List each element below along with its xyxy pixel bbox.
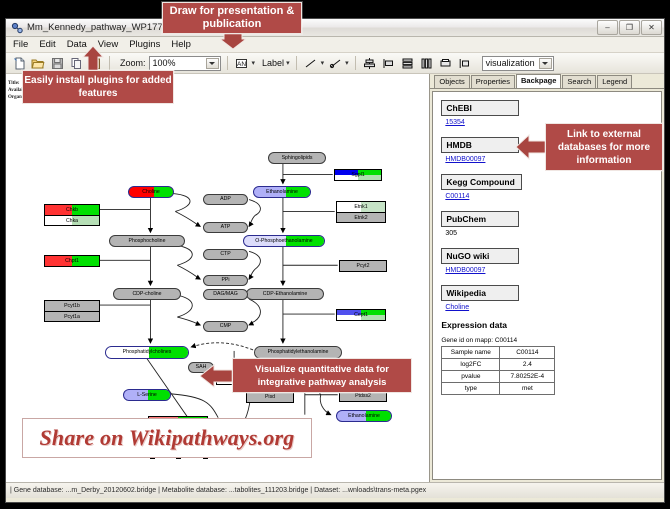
gene-label: Etnk1 bbox=[354, 204, 367, 210]
gene-row-etnk2[interactable]: Etnk2 bbox=[337, 212, 385, 222]
chevron-down-icon[interactable] bbox=[206, 58, 219, 69]
node-label: CTP bbox=[220, 251, 230, 258]
chevron-down-icon-2[interactable] bbox=[539, 58, 552, 69]
table-row: pvalue 7.80252E-4 bbox=[442, 371, 555, 383]
menu-plugins[interactable]: Plugins bbox=[128, 39, 161, 50]
node-label: CMP bbox=[220, 323, 232, 330]
db-link-nugo-wiki[interactable]: HMDB00097 bbox=[445, 267, 661, 274]
expr-value: 2.4 bbox=[500, 359, 555, 371]
close-button[interactable]: ✕ bbox=[641, 20, 662, 35]
gene-box-etnk1-etnk2[interactable]: Etnk1 Etnk2 bbox=[336, 201, 386, 223]
expression-data-table: Sample name C00114 log2FC 2.4 pvalue 7.8… bbox=[441, 346, 555, 395]
node-dag-mag[interactable]: DAG/MAG bbox=[203, 289, 248, 300]
status-bar: | Gene database: ...m_Derby_20120602.bri… bbox=[6, 482, 664, 498]
align-left-icon[interactable] bbox=[381, 55, 397, 71]
node-choline-top[interactable]: Choline bbox=[128, 186, 174, 198]
gene-label: Sgpl1 bbox=[351, 172, 364, 178]
menu-bar: File Edit Data View Plugins Help bbox=[6, 37, 664, 53]
gene-box-chkb-chka[interactable]: Chkb Chka bbox=[44, 204, 100, 226]
node-label: DAG/MAG bbox=[213, 291, 238, 298]
gene-id-on-mapp: Gene id on mapp: C00114 bbox=[441, 337, 661, 344]
callout-visualize-quantitative-data: Visualize quantitative data for integrat… bbox=[232, 358, 412, 393]
expr-value: met bbox=[500, 383, 555, 395]
db-header-chebi: ChEBI bbox=[441, 100, 519, 116]
gene-box-pcyt1b-pcyt1a[interactable]: Pcyt1b Pcyt1a bbox=[44, 300, 100, 322]
node-cmp[interactable]: CMP bbox=[203, 321, 248, 332]
callout-plugins-arrow-icon bbox=[82, 46, 104, 72]
node-cdp-ethanolamine[interactable]: CDP-Ethanolamine bbox=[246, 288, 324, 300]
toolbar-separator-4 bbox=[355, 56, 356, 70]
gene-label: Pcyt1b bbox=[64, 303, 80, 309]
gene-row-chkb[interactable]: Chkb bbox=[45, 205, 99, 215]
gene-row-etnk1[interactable]: Etnk1 bbox=[337, 202, 385, 212]
node-label: Phosphatidylethanolamine bbox=[268, 349, 329, 356]
gene-label: Ptdss2 bbox=[355, 393, 371, 399]
ungroup-icon[interactable] bbox=[457, 55, 473, 71]
pathvisio-icon bbox=[11, 22, 23, 34]
gene-box-pcyt2[interactable]: Pcyt2 bbox=[339, 260, 387, 272]
zoom-combo[interactable]: 100% bbox=[149, 56, 221, 71]
menu-edit[interactable]: Edit bbox=[38, 39, 56, 50]
node-label: Choline bbox=[142, 189, 160, 196]
node-label: L-Serine bbox=[137, 392, 157, 399]
expression-data-title: Expression data bbox=[441, 320, 661, 330]
toolbar-separator-2 bbox=[227, 56, 228, 70]
new-document-icon[interactable] bbox=[11, 55, 27, 71]
node-phosphocholine[interactable]: Phosphocholine bbox=[109, 235, 185, 247]
interaction-tool-icon[interactable] bbox=[327, 55, 343, 71]
callout-link-arrow-icon bbox=[516, 134, 548, 160]
line-tool-icon[interactable] bbox=[303, 55, 319, 71]
node-label: Phosphocholine bbox=[129, 238, 166, 245]
toolbar-separator-1 bbox=[109, 56, 110, 70]
svg-text:AN: AN bbox=[237, 61, 246, 68]
gene-label: Chka bbox=[66, 218, 78, 224]
menu-file[interactable]: File bbox=[12, 39, 29, 50]
label-tool-label[interactable]: Label bbox=[262, 58, 284, 68]
tab-backpage[interactable]: Backpage bbox=[516, 74, 561, 88]
line-dropdown-icon[interactable]: ▾ bbox=[321, 59, 325, 67]
datanode-dropdown-icon[interactable]: ▾ bbox=[252, 59, 256, 67]
node-cdp-choline[interactable]: CDP-choline bbox=[113, 288, 181, 300]
expr-value: C00114 bbox=[500, 347, 555, 359]
db-header-wikipedia: Wikipedia bbox=[441, 285, 519, 301]
node-ethanolamine-top[interactable]: Ethanolamine bbox=[253, 186, 311, 198]
side-panel-tabs: Objects Properties Backpage Search Legen… bbox=[430, 74, 664, 89]
stack-vertical-icon[interactable] bbox=[400, 55, 416, 71]
node-label: CDP-choline bbox=[132, 291, 161, 298]
callout-link-external-databases: Link to external databases for more info… bbox=[545, 123, 663, 171]
node-o-phosphoethanolamine[interactable]: O-Phosphoethanolamine bbox=[243, 235, 325, 247]
visualization-combo[interactable]: visualization bbox=[482, 56, 554, 71]
node-label: Phosphatidylcholines bbox=[123, 349, 172, 356]
menu-help[interactable]: Help bbox=[170, 39, 192, 50]
callout-viz-arrow-icon bbox=[200, 364, 236, 388]
node-ctp[interactable]: CTP bbox=[203, 249, 248, 260]
gene-row-chka[interactable]: Chka bbox=[45, 215, 99, 225]
minimize-button[interactable]: – bbox=[597, 20, 618, 35]
gene-row-pcyt1b[interactable]: Pcyt1b bbox=[45, 301, 99, 311]
node-adp[interactable]: ADP bbox=[203, 194, 248, 205]
open-folder-icon[interactable] bbox=[30, 55, 46, 71]
node-label: Ethanolamine bbox=[266, 189, 298, 196]
db-value-pubchem: 305 bbox=[445, 230, 661, 237]
callout-draw-arrow-icon bbox=[220, 33, 246, 49]
expr-key: Sample name bbox=[442, 347, 500, 359]
db-header-hmdb: HMDB bbox=[441, 137, 519, 153]
node-sphingolipids[interactable]: Sphingolipids bbox=[268, 152, 326, 164]
gene-label: Pcyt1a bbox=[64, 314, 80, 320]
node-atp[interactable]: ATP bbox=[203, 222, 248, 233]
node-ethanolamine-bottom[interactable]: Ethanolamine bbox=[336, 410, 392, 422]
toolbar-separator-3 bbox=[296, 56, 297, 70]
zoom-label: Zoom: bbox=[120, 58, 146, 68]
interaction-dropdown-icon[interactable]: ▾ bbox=[345, 59, 349, 67]
gene-label: Chpt1 bbox=[65, 258, 79, 264]
expr-key: log2FC bbox=[442, 359, 500, 371]
node-ppi[interactable]: PPi bbox=[203, 275, 248, 286]
gene-row-pcyt1a[interactable]: Pcyt1a bbox=[45, 311, 99, 321]
zoom-value: 100% bbox=[153, 58, 176, 68]
node-label: Sphingolipids bbox=[282, 155, 313, 162]
distribute-horizontal-icon[interactable] bbox=[419, 55, 435, 71]
share-text: Share on Wikipathways.org bbox=[39, 425, 294, 451]
callout-install-plugins: Easily install plugins for added feature… bbox=[22, 70, 174, 104]
node-label: ADP bbox=[220, 196, 231, 203]
db-header-pubchem: PubChem bbox=[441, 211, 519, 227]
group-icon[interactable] bbox=[438, 55, 454, 71]
db-link-kegg[interactable]: C00114 bbox=[445, 193, 661, 200]
visualization-value: visualization bbox=[486, 58, 535, 68]
datanode-tool-icon[interactable]: AN bbox=[234, 55, 250, 71]
db-header-kegg: Kegg Compound bbox=[441, 174, 521, 190]
callout-draw-for-presentation: Draw for presentation & publication bbox=[162, 2, 302, 34]
gene-label: Chkb bbox=[66, 207, 78, 213]
table-row: Sample name C00114 bbox=[442, 347, 555, 359]
gene-label: Etnk2 bbox=[354, 215, 367, 221]
align-center-icon[interactable] bbox=[362, 55, 378, 71]
node-label: CDP-Ethanolamine bbox=[263, 291, 307, 298]
node-phosphatidylcholines[interactable]: Phosphatidylcholines bbox=[105, 346, 189, 359]
tab-objects[interactable]: Objects bbox=[434, 75, 469, 88]
node-label: PPi bbox=[221, 277, 229, 284]
title-bar: Mm_Kennedy_pathway_WP1771_45176.gpml – ❐… bbox=[6, 19, 664, 37]
expr-key: type bbox=[442, 383, 500, 395]
tab-search[interactable]: Search bbox=[562, 75, 596, 88]
expr-key: pvalue bbox=[442, 371, 500, 383]
gene-box-chpt1[interactable]: Chpt1 bbox=[44, 255, 100, 267]
callout-share-wikipathways: Share on Wikipathways.org bbox=[22, 418, 312, 458]
save-disk-icon[interactable] bbox=[49, 55, 65, 71]
window-controls: – ❐ ✕ bbox=[597, 20, 662, 35]
gene-box-sgpl1[interactable]: Sgpl1 bbox=[334, 169, 382, 181]
gene-label: Cept1 bbox=[354, 312, 368, 318]
table-row: log2FC 2.4 bbox=[442, 359, 555, 371]
gene-label: Pcyt2 bbox=[357, 263, 370, 269]
maximize-button[interactable]: ❐ bbox=[619, 20, 640, 35]
db-link-wikipedia[interactable]: Choline bbox=[445, 304, 661, 311]
gene-box-cept1[interactable]: Cept1 bbox=[336, 309, 386, 321]
db-header-nugo-wiki: NuGO wiki bbox=[441, 248, 519, 264]
tab-properties[interactable]: Properties bbox=[471, 75, 515, 88]
label-dropdown-icon[interactable]: ▾ bbox=[286, 59, 290, 67]
status-text: | Gene database: ...m_Derby_20120602.bri… bbox=[10, 487, 426, 494]
tab-legend[interactable]: Legend bbox=[597, 75, 632, 88]
node-label: ATP bbox=[221, 224, 231, 231]
table-row: type met bbox=[442, 383, 555, 395]
node-label: O-Phosphoethanolamine bbox=[255, 238, 312, 245]
expr-value: 7.80252E-4 bbox=[500, 371, 555, 383]
node-label: Ethanolamine bbox=[348, 413, 380, 420]
node-l-serine-left[interactable]: L-Serine bbox=[123, 389, 171, 401]
gene-label: Pisd bbox=[265, 394, 275, 400]
